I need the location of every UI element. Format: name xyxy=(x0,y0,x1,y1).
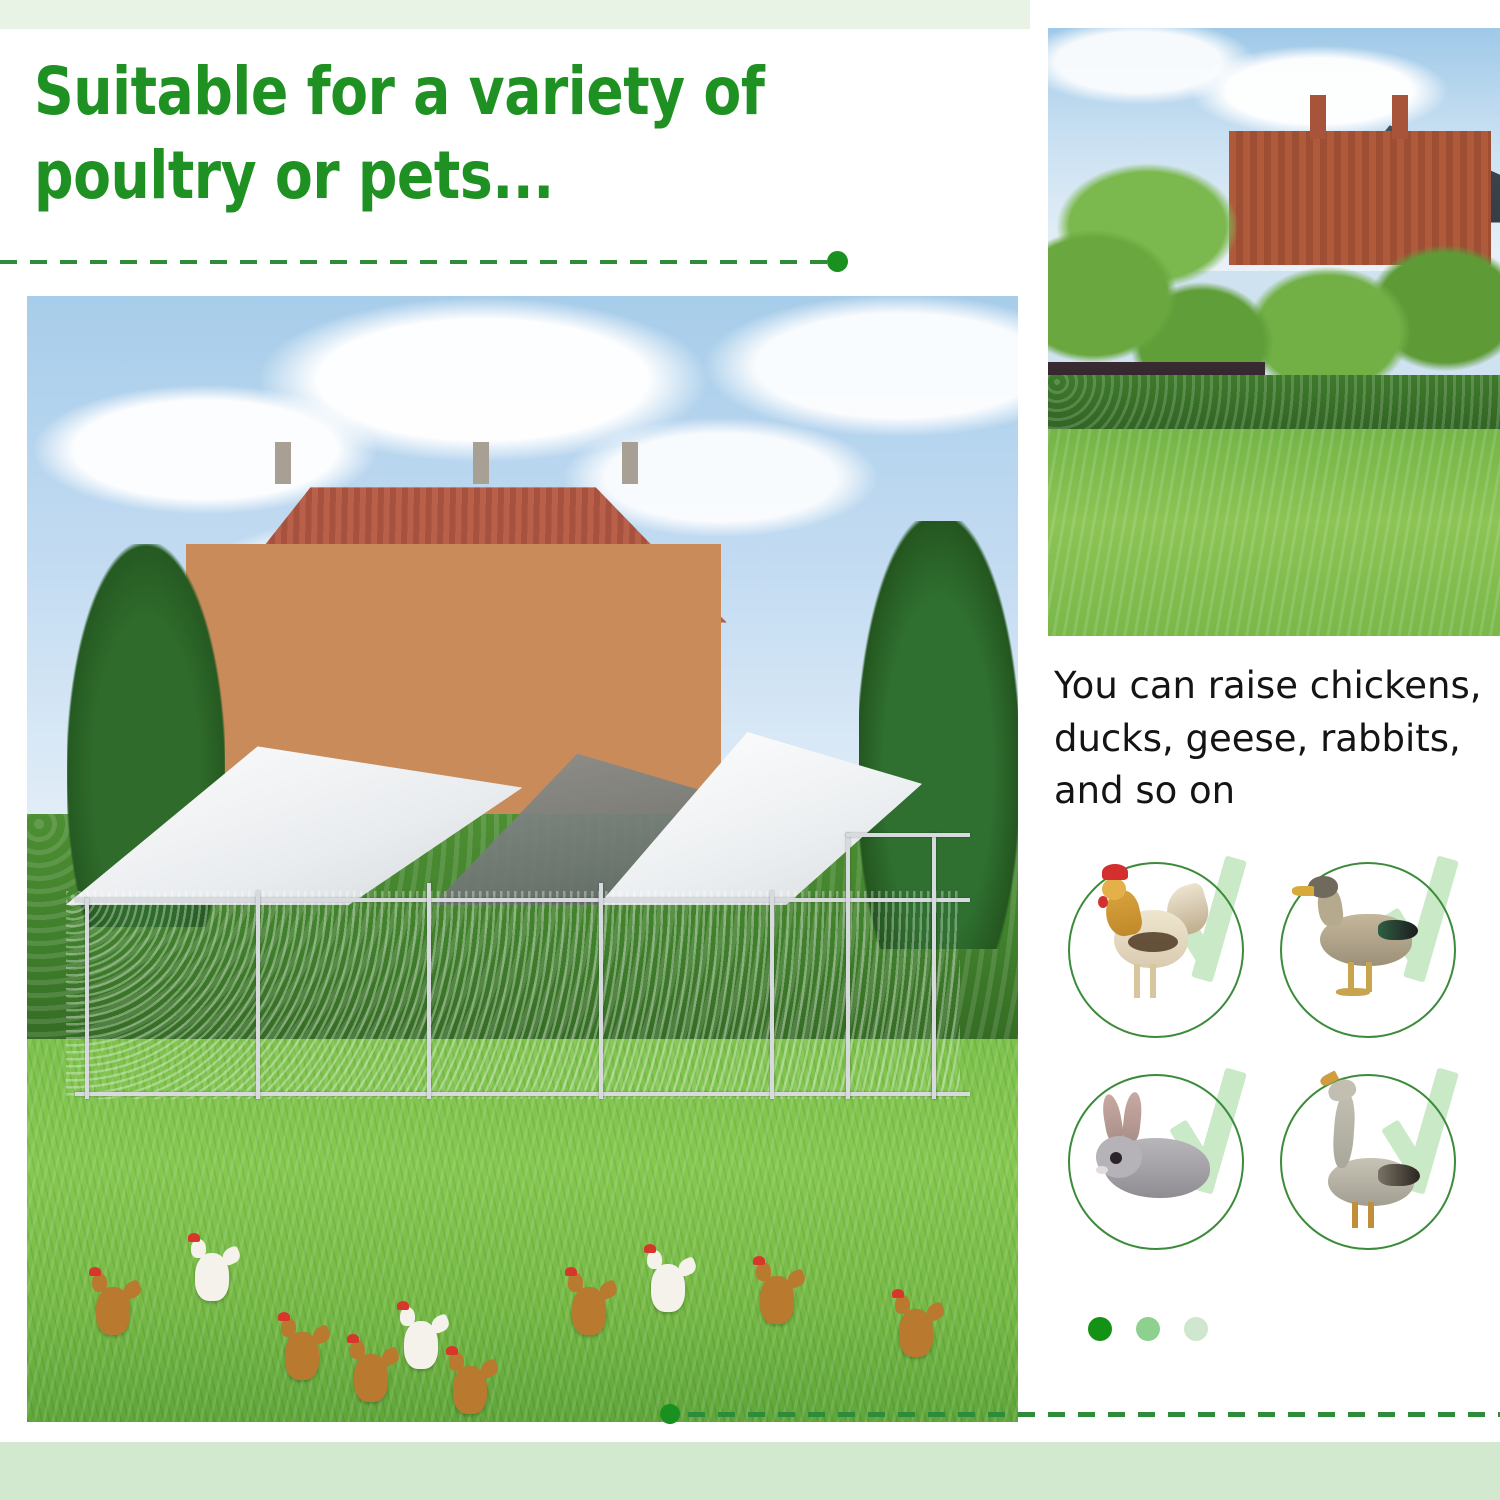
chicken xyxy=(354,1354,388,1402)
divider-start-dot xyxy=(660,1404,680,1424)
dashed-line xyxy=(688,1412,1500,1417)
frame-bar-bottom xyxy=(75,1092,969,1096)
frame-post xyxy=(599,883,603,1099)
chicken xyxy=(195,1253,229,1301)
chimney-icon xyxy=(622,442,638,484)
chicken xyxy=(453,1366,487,1414)
headline-divider xyxy=(0,258,848,266)
roof-panel-left xyxy=(66,746,523,905)
chimney-icon xyxy=(473,442,489,484)
headline-line-1: Suitable for a variety of xyxy=(34,50,927,134)
chicken-coop-structure xyxy=(47,746,998,1106)
chicken xyxy=(899,1309,933,1357)
chimney-icon xyxy=(1310,95,1326,139)
dashed-line xyxy=(0,260,838,264)
product-feature-page: Suitable for a variety of poultry or pet… xyxy=(0,0,1500,1500)
chicken xyxy=(404,1321,438,1369)
pagination-dot-2[interactable] xyxy=(1136,1317,1160,1341)
animal-cell-goose[interactable] xyxy=(1274,1060,1482,1268)
frame-post xyxy=(770,891,774,1100)
page-title: Suitable for a variety of poultry or pet… xyxy=(34,50,927,219)
frame-post xyxy=(85,898,89,1100)
feature-caption: You can raise chickens, ducks, geese, ra… xyxy=(1054,660,1484,818)
door-frame xyxy=(932,833,936,1100)
frame-post xyxy=(427,883,431,1099)
animal-cell-rabbit[interactable] xyxy=(1062,1060,1270,1268)
animal-cell-duck[interactable] xyxy=(1274,848,1482,1056)
suitable-animals-grid xyxy=(1062,848,1482,1268)
divider-end-dot xyxy=(827,251,848,272)
frame-bar-top xyxy=(75,898,969,902)
chicken xyxy=(96,1287,130,1335)
door-header xyxy=(846,833,970,837)
hero-product-photo[interactable] xyxy=(27,296,1018,1422)
chimney-icon xyxy=(1392,95,1408,139)
wire-mesh-wall xyxy=(66,891,960,1100)
bottom-accent-band xyxy=(0,1442,1500,1500)
door-frame xyxy=(846,833,850,1100)
frame-post xyxy=(256,891,260,1100)
chicken xyxy=(651,1264,685,1312)
chicken xyxy=(285,1332,319,1380)
bottom-divider xyxy=(660,1408,1040,1418)
headline-line-2: poultry or pets... xyxy=(34,134,927,218)
top-accent-band xyxy=(0,0,1030,29)
pagination-dot-1[interactable] xyxy=(1088,1317,1112,1341)
carousel-pagination[interactable] xyxy=(1088,1316,1208,1342)
chimney-icon xyxy=(275,442,291,484)
animal-cell-rooster[interactable] xyxy=(1062,848,1270,1056)
garden-lifestyle-photo[interactable] xyxy=(1048,28,1500,636)
chicken xyxy=(760,1276,794,1324)
pagination-dot-3[interactable] xyxy=(1184,1317,1208,1341)
chicken xyxy=(572,1287,606,1335)
lawn-foreground xyxy=(1048,429,1500,636)
